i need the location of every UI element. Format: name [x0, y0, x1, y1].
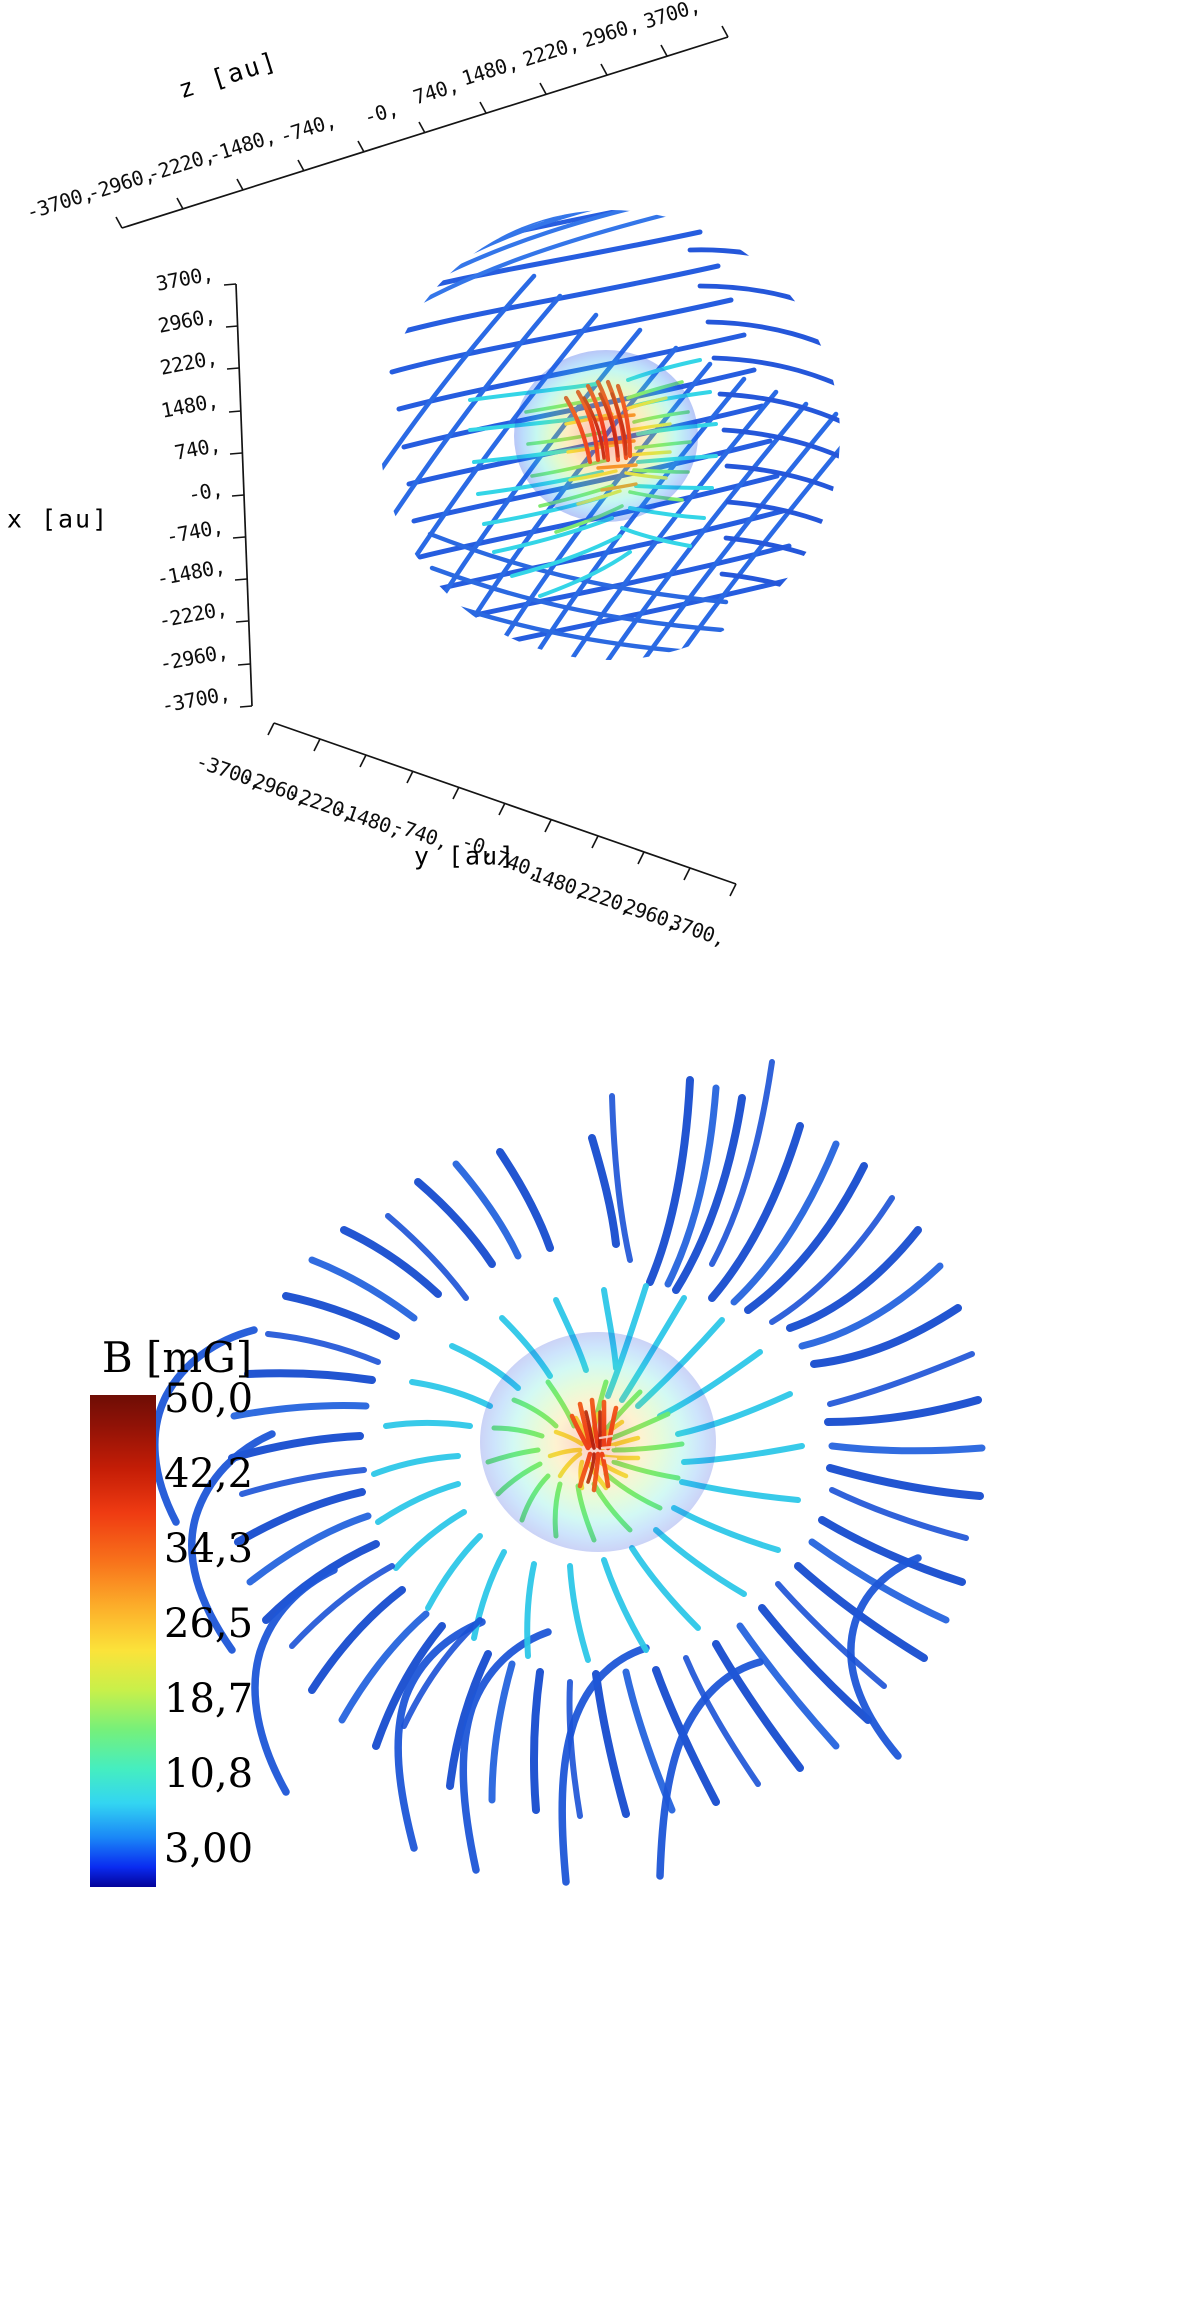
- colorbar-tick-label: 10,8: [164, 1754, 253, 1794]
- axis-x-label: x [au]: [7, 505, 109, 534]
- colorbar-tick-label: 34,3: [164, 1529, 253, 1569]
- core-glow: [514, 350, 698, 522]
- axis-y-label: y [au]: [414, 842, 516, 871]
- colorbar: B [mG] 50,0 42,2 34,3 26,5 18,7 10,8 3,0…: [52, 1395, 312, 1915]
- panel-face-on-view: B [mG] 50,0 42,2 34,3 26,5 18,7 10,8 3,0…: [0, 930, 1200, 2308]
- streamlines-3d-plot: [0, 0, 1200, 930]
- panel-3d-perspective-view: -3700, -2960, -2220, -1480, -740, -0, 74…: [0, 0, 1200, 930]
- colorbar-title: B [mG]: [62, 1333, 292, 1382]
- colorbar-gradient: [90, 1395, 156, 1887]
- core-glow-faceon: [480, 1332, 716, 1552]
- colorbar-tick-label: 3,00: [164, 1829, 253, 1869]
- colorbar-tick-label: 26,5: [164, 1604, 253, 1644]
- axis-z-ticks: [116, 26, 728, 228]
- colorbar-tick-label: 18,7: [164, 1679, 253, 1719]
- colorbar-tick-label: 50,0: [164, 1379, 253, 1419]
- colorbar-tick-label: 42,2: [164, 1454, 253, 1494]
- figure-root: -3700, -2960, -2220, -1480, -740, -0, 74…: [0, 0, 1200, 2308]
- streamline-bundle-3d: [352, 164, 874, 678]
